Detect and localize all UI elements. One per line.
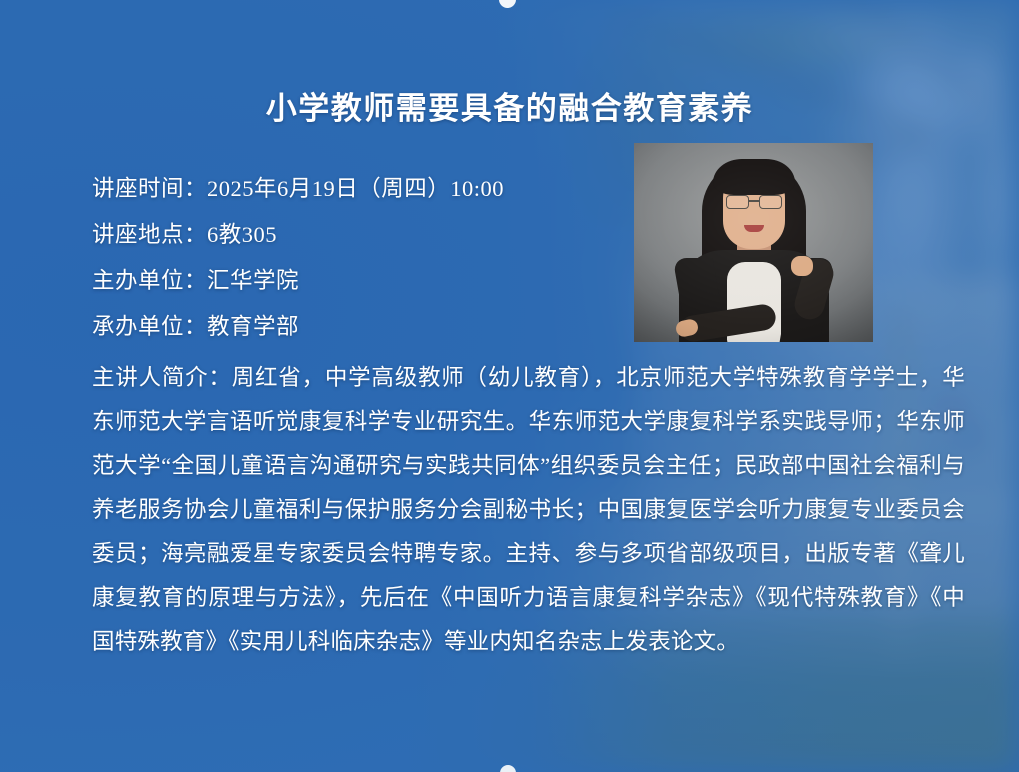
page-title: 小学教师需要具备的融合教育素养	[0, 83, 1019, 128]
lecture-meta-list: 讲座时间：2025年6月19日（周四）10:00 讲座地点：6教305 主办单位…	[92, 166, 504, 350]
meta-label-host: 承办单位：	[92, 314, 207, 339]
lecture-poster: 小学教师需要具备的融合教育素养 讲座时间：2025年6月1	[0, 0, 1019, 772]
meta-value-time: 2025年6月19日（周四）10:00	[207, 176, 504, 201]
speaker-biography: 主讲人简介：周红省，中学高级教师（幼儿教育），北京师范大学特殊教育学学士，华东师…	[92, 356, 965, 664]
meta-label-organizer: 主办单位：	[92, 268, 207, 293]
speaker-portrait-photo	[634, 143, 873, 342]
poster-content: 小学教师需要具备的融合教育素养 讲座时间：2025年6月1	[0, 0, 1019, 772]
portrait-vignette	[634, 143, 873, 342]
meta-label-location: 讲座地点：	[92, 222, 207, 247]
meta-value-organizer: 汇华学院	[207, 268, 299, 293]
meta-row-time: 讲座时间：2025年6月19日（周四）10:00	[92, 166, 504, 212]
meta-label-time: 讲座时间：	[92, 176, 207, 201]
meta-row-organizer: 主办单位：汇华学院	[92, 258, 504, 304]
meta-value-host: 教育学部	[207, 314, 299, 339]
meta-row-location: 讲座地点：6教305	[92, 212, 504, 258]
meta-value-location: 6教305	[207, 222, 277, 247]
meta-row-host: 承办单位：教育学部	[92, 304, 504, 350]
